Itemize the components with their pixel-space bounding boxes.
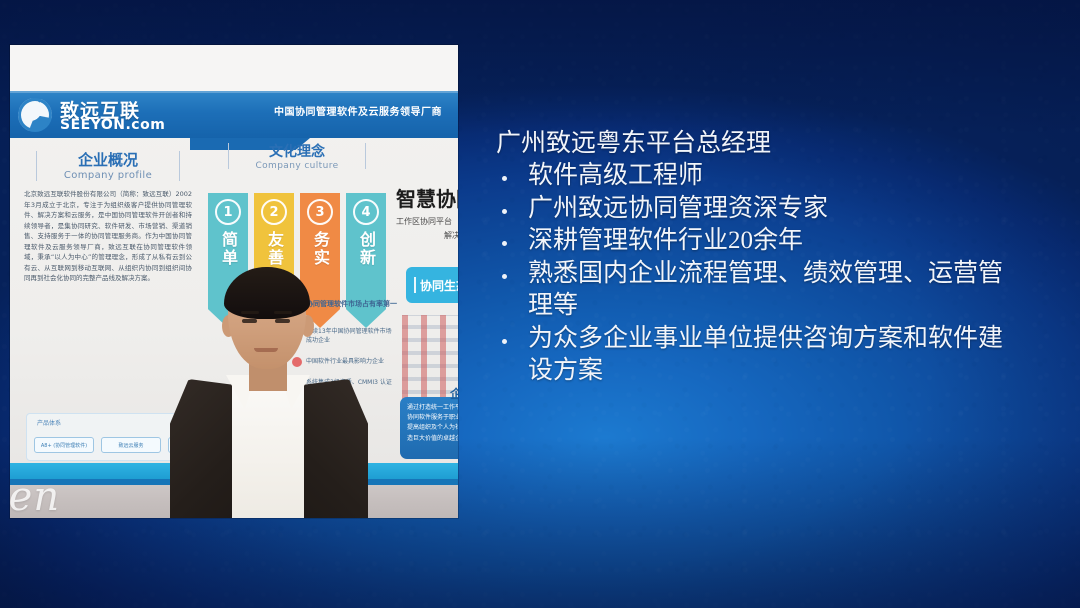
- bullet-item: 广州致远协同管理资深专家: [496, 193, 1016, 226]
- speaker-title: 广州致远粤东平台总经理: [496, 128, 1016, 160]
- mouth: [254, 348, 278, 352]
- bullet-item: 熟悉国内企业流程管理、绩效管理、运营管理等: [496, 258, 1016, 323]
- bullet-item: 深耕管理软件行业20余年: [496, 225, 1016, 258]
- hair: [224, 267, 310, 319]
- slide-canvas: 致远互联 SEEYON.com 中国协同管理软件及云服务领导厂商 企业概况 Co…: [0, 0, 1080, 608]
- speaker-figure: [10, 45, 458, 518]
- speaker-bullet-list: 软件高级工程师 广州致远协同管理资深专家 深耕管理软件行业20余年 熟悉国内企业…: [496, 160, 1016, 388]
- eye-right: [275, 319, 290, 323]
- eyebrow-left: [241, 311, 259, 314]
- photo-content: 致远互联 SEEYON.com 中国协同管理软件及云服务领导厂商 企业概况 Co…: [10, 45, 458, 518]
- eyebrow-right: [274, 311, 292, 314]
- speaker-photo: 致远互联 SEEYON.com 中国协同管理软件及云服务领导厂商 企业概况 Co…: [10, 45, 458, 518]
- eye-left: [242, 319, 257, 323]
- bullet-item: 为众多企业事业单位提供咨询方案和软件建设方案: [496, 323, 1016, 388]
- bullet-item: 软件高级工程师: [496, 160, 1016, 193]
- speaker-bio-text: 广州致远粤东平台总经理 软件高级工程师 广州致远协同管理资深专家 深耕管理软件行…: [496, 128, 1016, 388]
